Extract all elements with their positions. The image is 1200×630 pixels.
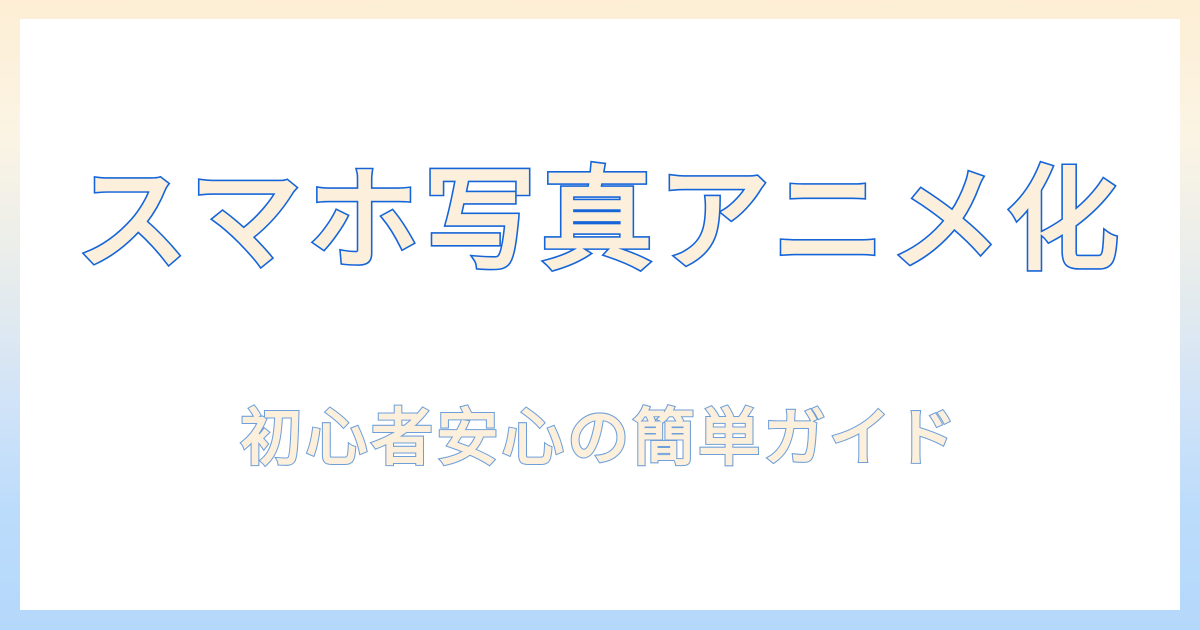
- eyecatch-card: スマホ写真アニメ化 初心者安心の簡単ガイド: [0, 0, 1200, 630]
- subtitle-block: 初心者安心の簡単ガイド: [20, 404, 1180, 472]
- page-title: スマホ写真アニメ化: [20, 161, 1180, 282]
- title-block: スマホ写真アニメ化: [20, 161, 1180, 282]
- card-canvas: スマホ写真アニメ化 初心者安心の簡単ガイド: [20, 19, 1180, 610]
- page-subtitle: 初心者安心の簡単ガイド: [20, 404, 1180, 472]
